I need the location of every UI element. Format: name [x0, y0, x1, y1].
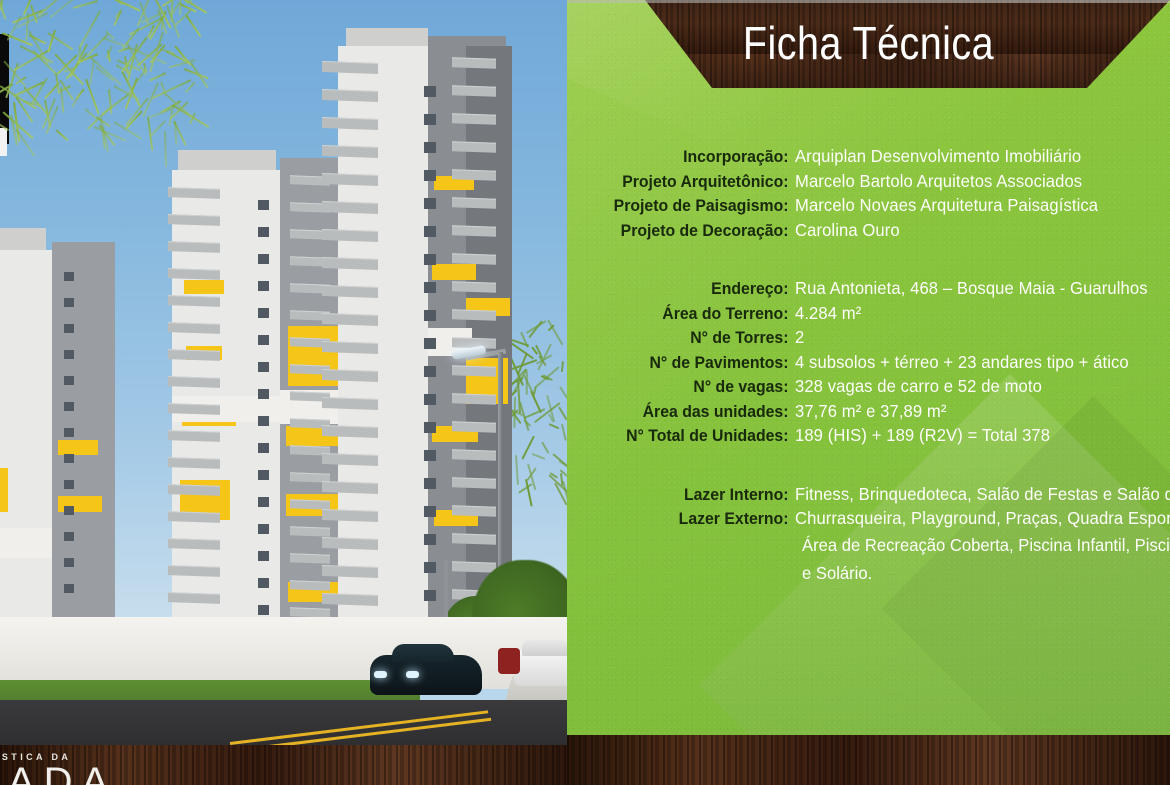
- balcony: [452, 281, 496, 293]
- balcony: [168, 538, 220, 550]
- balcony: [322, 229, 378, 242]
- window: [64, 584, 74, 593]
- window: [258, 470, 269, 480]
- spec-label: Lazer Interno:: [583, 486, 795, 503]
- balcony: [290, 553, 330, 563]
- balcony: [168, 457, 220, 469]
- spec-label: N° de Pavimentos:: [583, 354, 795, 371]
- foliage-leaf: [149, 120, 165, 137]
- spec-value: Marcelo Novaes Arquitetura Paisagística: [795, 197, 1098, 215]
- foliage-leaf: [0, 118, 9, 131]
- window: [424, 506, 436, 517]
- window: [258, 551, 269, 561]
- spec-value: 328 vagas de carro e 52 de moto: [795, 378, 1042, 396]
- spec-row: Área das unidades:37,76 m² e 37,89 m²: [567, 403, 1170, 421]
- balcony: [452, 197, 496, 209]
- watermark-large-text: HADA: [0, 762, 117, 785]
- window: [424, 394, 436, 405]
- spec-row: N° de Torres:2: [567, 329, 1170, 347]
- window: [258, 578, 269, 588]
- balcony: [168, 295, 220, 307]
- balcony: [168, 592, 220, 604]
- spec-row: Projeto de Decoração:Carolina Ouro: [567, 222, 1170, 240]
- spec-label: N° de vagas:: [583, 378, 795, 395]
- foliage-leaf: [149, 72, 166, 82]
- window: [258, 254, 269, 264]
- window: [424, 198, 436, 209]
- window: [424, 562, 436, 573]
- spec-value: Marcelo Bartolo Arquitetos Associados: [795, 173, 1082, 191]
- spec-label: Área das unidades:: [583, 403, 795, 420]
- spec-row: N° Total de Unidades:189 (HIS) + 189 (R2…: [567, 427, 1170, 445]
- foliage-leaf: [526, 320, 547, 334]
- spec-row: Área do Terreno:4.284 m²: [567, 305, 1170, 323]
- balcony: [322, 565, 378, 578]
- spec-label: Área do Terreno:: [583, 305, 795, 322]
- foliage-leaf: [26, 13, 30, 41]
- spec-label: N° de Torres:: [583, 329, 795, 346]
- spec-row: Lazer Interno:Fitness, Brinquedoteca, Sa…: [567, 486, 1170, 504]
- window: [64, 428, 74, 437]
- spec-value: 4.284 m²: [795, 305, 861, 323]
- window: [258, 335, 269, 345]
- window: [64, 558, 74, 567]
- balcony: [322, 173, 378, 186]
- balcony: [168, 349, 220, 361]
- window: [258, 497, 269, 507]
- balcony: [290, 526, 330, 536]
- spec-group-leisure: Lazer Interno:Fitness, Brinquedoteca, Sa…: [567, 486, 1170, 584]
- balcony: [452, 113, 496, 125]
- foliage-leaf: [517, 381, 521, 414]
- balcony: [168, 268, 220, 280]
- window: [424, 534, 436, 545]
- spec-label: N° Total de Unidades:: [583, 427, 795, 444]
- window: [64, 506, 74, 515]
- balcony: [322, 425, 378, 438]
- spec-value: Rua Antonieta, 468 – Bosque Maia - Guaru…: [795, 280, 1148, 298]
- spec-row: N° de Pavimentos:4 subsolos + térreo + 2…: [567, 354, 1170, 372]
- spec-label: Endereço:: [583, 280, 795, 297]
- spec-value: 37,76 m² e 37,89 m²: [795, 403, 947, 421]
- spec-list: Incorporação:Arquiplan Desenvolvimento I…: [567, 148, 1170, 591]
- car-red-partial: [498, 648, 520, 674]
- window: [64, 402, 74, 411]
- foliage-leaf: [185, 15, 201, 38]
- balcony: [168, 241, 220, 253]
- window: [258, 362, 269, 372]
- balcony: [322, 117, 378, 130]
- window: [424, 226, 436, 237]
- foliage-leaf: [163, 92, 193, 118]
- tree-foliage-top-left: [0, 0, 200, 172]
- balcony: [322, 369, 378, 382]
- balcony: [452, 505, 496, 517]
- spec-label: Lazer Externo:: [583, 510, 795, 527]
- spec-row: Projeto de Paisagismo:Marcelo Novaes Arq…: [567, 197, 1170, 215]
- balcony: [322, 481, 378, 494]
- window: [424, 450, 436, 461]
- window: [424, 478, 436, 489]
- car-headlight-right: [406, 671, 419, 678]
- page-title: Ficha Técnica: [609, 20, 1128, 66]
- foliage-leaf: [73, 0, 99, 9]
- window: [424, 590, 436, 601]
- foliage-leaf: [532, 453, 546, 460]
- balcony: [452, 57, 496, 69]
- window: [424, 86, 436, 97]
- window: [258, 443, 269, 453]
- spec-value-continuation: e Solário.: [802, 563, 1170, 584]
- balcony: [168, 403, 220, 415]
- foliage-leaf: [561, 424, 567, 441]
- window: [64, 454, 74, 463]
- balcony: [322, 89, 378, 102]
- foliage-leaf: [560, 473, 563, 486]
- spec-group-project-team: Incorporação:Arquiplan Desenvolvimento I…: [567, 148, 1170, 239]
- car-dark-sedan: [370, 655, 482, 695]
- spec-row: Lazer Externo:Churrasqueira, Playground,…: [567, 510, 1170, 528]
- balcony: [452, 85, 496, 97]
- balcony: [168, 214, 220, 226]
- foliage-leaf: [159, 48, 174, 54]
- window: [258, 308, 269, 318]
- spec-value: 2: [795, 329, 804, 347]
- spec-row: N° de vagas:328 vagas de carro e 52 de m…: [567, 378, 1170, 396]
- bottom-wood-band-right: [567, 735, 1170, 785]
- window: [258, 200, 269, 210]
- window: [424, 114, 436, 125]
- foliage-leaf: [0, 0, 3, 11]
- balcony: [452, 533, 496, 545]
- balcony: [452, 421, 496, 433]
- foliage-leaf: [55, 130, 68, 142]
- spec-row: Endereço:Rua Antonieta, 468 – Bosque Mai…: [567, 280, 1170, 298]
- window: [424, 338, 436, 349]
- foliage-leaf: [549, 423, 560, 429]
- window: [258, 605, 269, 615]
- window: [258, 227, 269, 237]
- spec-value: 189 (HIS) + 189 (R2V) = Total 378: [795, 427, 1050, 445]
- balcony: [322, 341, 378, 354]
- balcony: [322, 453, 378, 466]
- balcony: [452, 253, 496, 265]
- balcony: [322, 201, 378, 214]
- foliage-leaf: [558, 406, 567, 420]
- foliage-leaf: [561, 360, 564, 371]
- balcony: [322, 61, 378, 74]
- spec-row: Incorporação:Arquiplan Desenvolvimento I…: [567, 148, 1170, 166]
- foliage-leaf: [76, 88, 85, 99]
- window: [258, 389, 269, 399]
- balcony: [322, 593, 378, 606]
- balcony: [322, 397, 378, 410]
- balcony: [168, 376, 220, 388]
- balcony: [322, 257, 378, 270]
- foliage-leaf: [185, 82, 196, 94]
- spec-label: Projeto de Decoração:: [583, 222, 795, 239]
- balcony: [452, 561, 496, 573]
- spec-value: 4 subsolos + térreo + 23 andares tipo + …: [795, 354, 1129, 372]
- window: [64, 350, 74, 359]
- window: [424, 422, 436, 433]
- window: [64, 324, 74, 333]
- balcony: [322, 285, 378, 298]
- foliage-leaf: [559, 386, 567, 401]
- window: [424, 170, 436, 181]
- balcony: [452, 169, 496, 181]
- balcony: [322, 145, 378, 158]
- foliage-leaf: [89, 59, 95, 84]
- spec-value-continuation: Área de Recreação Coberta, Piscina Infan…: [802, 535, 1170, 556]
- spec-label: Projeto Arquitetônico:: [583, 173, 795, 190]
- window: [258, 524, 269, 534]
- window: [424, 142, 436, 153]
- foliage-leaf: [547, 319, 563, 345]
- balcony: [290, 580, 330, 590]
- foliage-leaf: [523, 375, 534, 395]
- slide-root: ÍSTICA DA HADA Ficha Técnica Incorporaçã…: [0, 0, 1170, 785]
- window: [424, 310, 436, 321]
- window: [64, 532, 74, 541]
- window: [258, 416, 269, 426]
- spec-label: Projeto de Paisagismo:: [583, 197, 795, 214]
- balcony: [452, 393, 496, 405]
- balcony: [168, 565, 220, 577]
- spec-label: Incorporação:: [583, 148, 795, 165]
- window: [64, 298, 74, 307]
- header-top-rule: [567, 0, 1170, 3]
- balcony: [168, 484, 220, 496]
- window: [424, 282, 436, 293]
- window: [64, 480, 74, 489]
- tower-left: [0, 228, 115, 628]
- balcony: [168, 430, 220, 442]
- balcony: [168, 187, 220, 199]
- window: [424, 254, 436, 265]
- balcony: [168, 322, 220, 334]
- foliage-leaf: [541, 442, 549, 454]
- spec-value: Arquiplan Desenvolvimento Imobiliário: [795, 148, 1081, 166]
- balcony: [168, 511, 220, 523]
- balcony: [452, 477, 496, 489]
- balcony: [452, 309, 496, 321]
- foliage-leaf: [518, 483, 533, 494]
- balcony: [452, 141, 496, 153]
- spec-value: Fitness, Brinquedoteca, Salão de Festas …: [795, 486, 1170, 504]
- spec-value: Churrasqueira, Playground, Praças, Quadr…: [795, 510, 1170, 528]
- balcony: [322, 509, 378, 522]
- spec-row: Projeto Arquitetônico:Marcelo Bartolo Ar…: [567, 173, 1170, 191]
- balcony: [322, 313, 378, 326]
- spec-group-building-data: Endereço:Rua Antonieta, 468 – Bosque Mai…: [567, 280, 1170, 445]
- balcony: [452, 225, 496, 237]
- building-render-photo: ÍSTICA DA HADA: [0, 0, 567, 785]
- foliage-leaf: [521, 436, 535, 460]
- window: [64, 272, 74, 281]
- balcony: [452, 449, 496, 461]
- balcony: [452, 365, 496, 377]
- balcony: [322, 537, 378, 550]
- window: [64, 376, 74, 385]
- car-white-suv: [514, 650, 567, 686]
- window: [258, 281, 269, 291]
- window: [424, 366, 436, 377]
- car-headlight-left: [374, 671, 387, 678]
- spec-value: Carolina Ouro: [795, 222, 900, 240]
